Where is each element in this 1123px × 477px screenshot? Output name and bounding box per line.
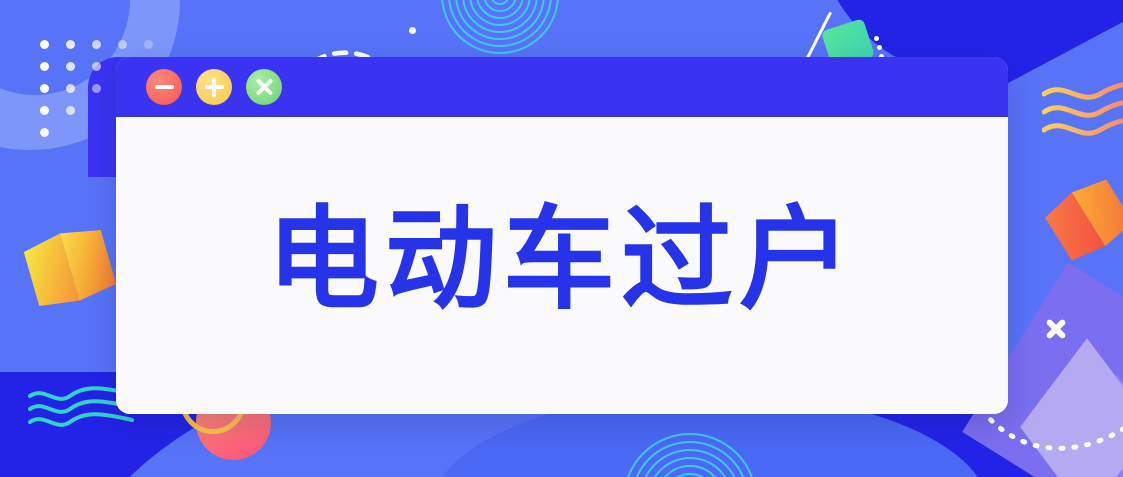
diamond-shadow-decoration [1050,374,1123,477]
maximize-button[interactable] [196,69,232,105]
dot-icon [409,27,416,34]
minimize-button[interactable] [146,69,182,105]
concentric-rings-icon [455,0,545,40]
x-mark-icon [1045,318,1067,340]
diamond-icon [1020,338,1123,477]
page-title: 电动车过户 [267,204,857,316]
open-book-icon [20,218,120,318]
top-left-arc-inner [0,0,130,95]
open-book-right-icon [1044,175,1123,265]
close-button[interactable] [246,69,282,105]
minus-icon [155,85,174,89]
plus-icon-vertical [212,78,216,97]
wave-lines-icon [1042,82,1123,146]
concentric-rings-bottom-icon [645,455,735,477]
window-content: 电动车过户 [116,117,1008,414]
poster-canvas: 电动车过户 [0,0,1123,477]
window-titlebar [116,57,1008,117]
window-card: 电动车过户 [116,57,1008,414]
